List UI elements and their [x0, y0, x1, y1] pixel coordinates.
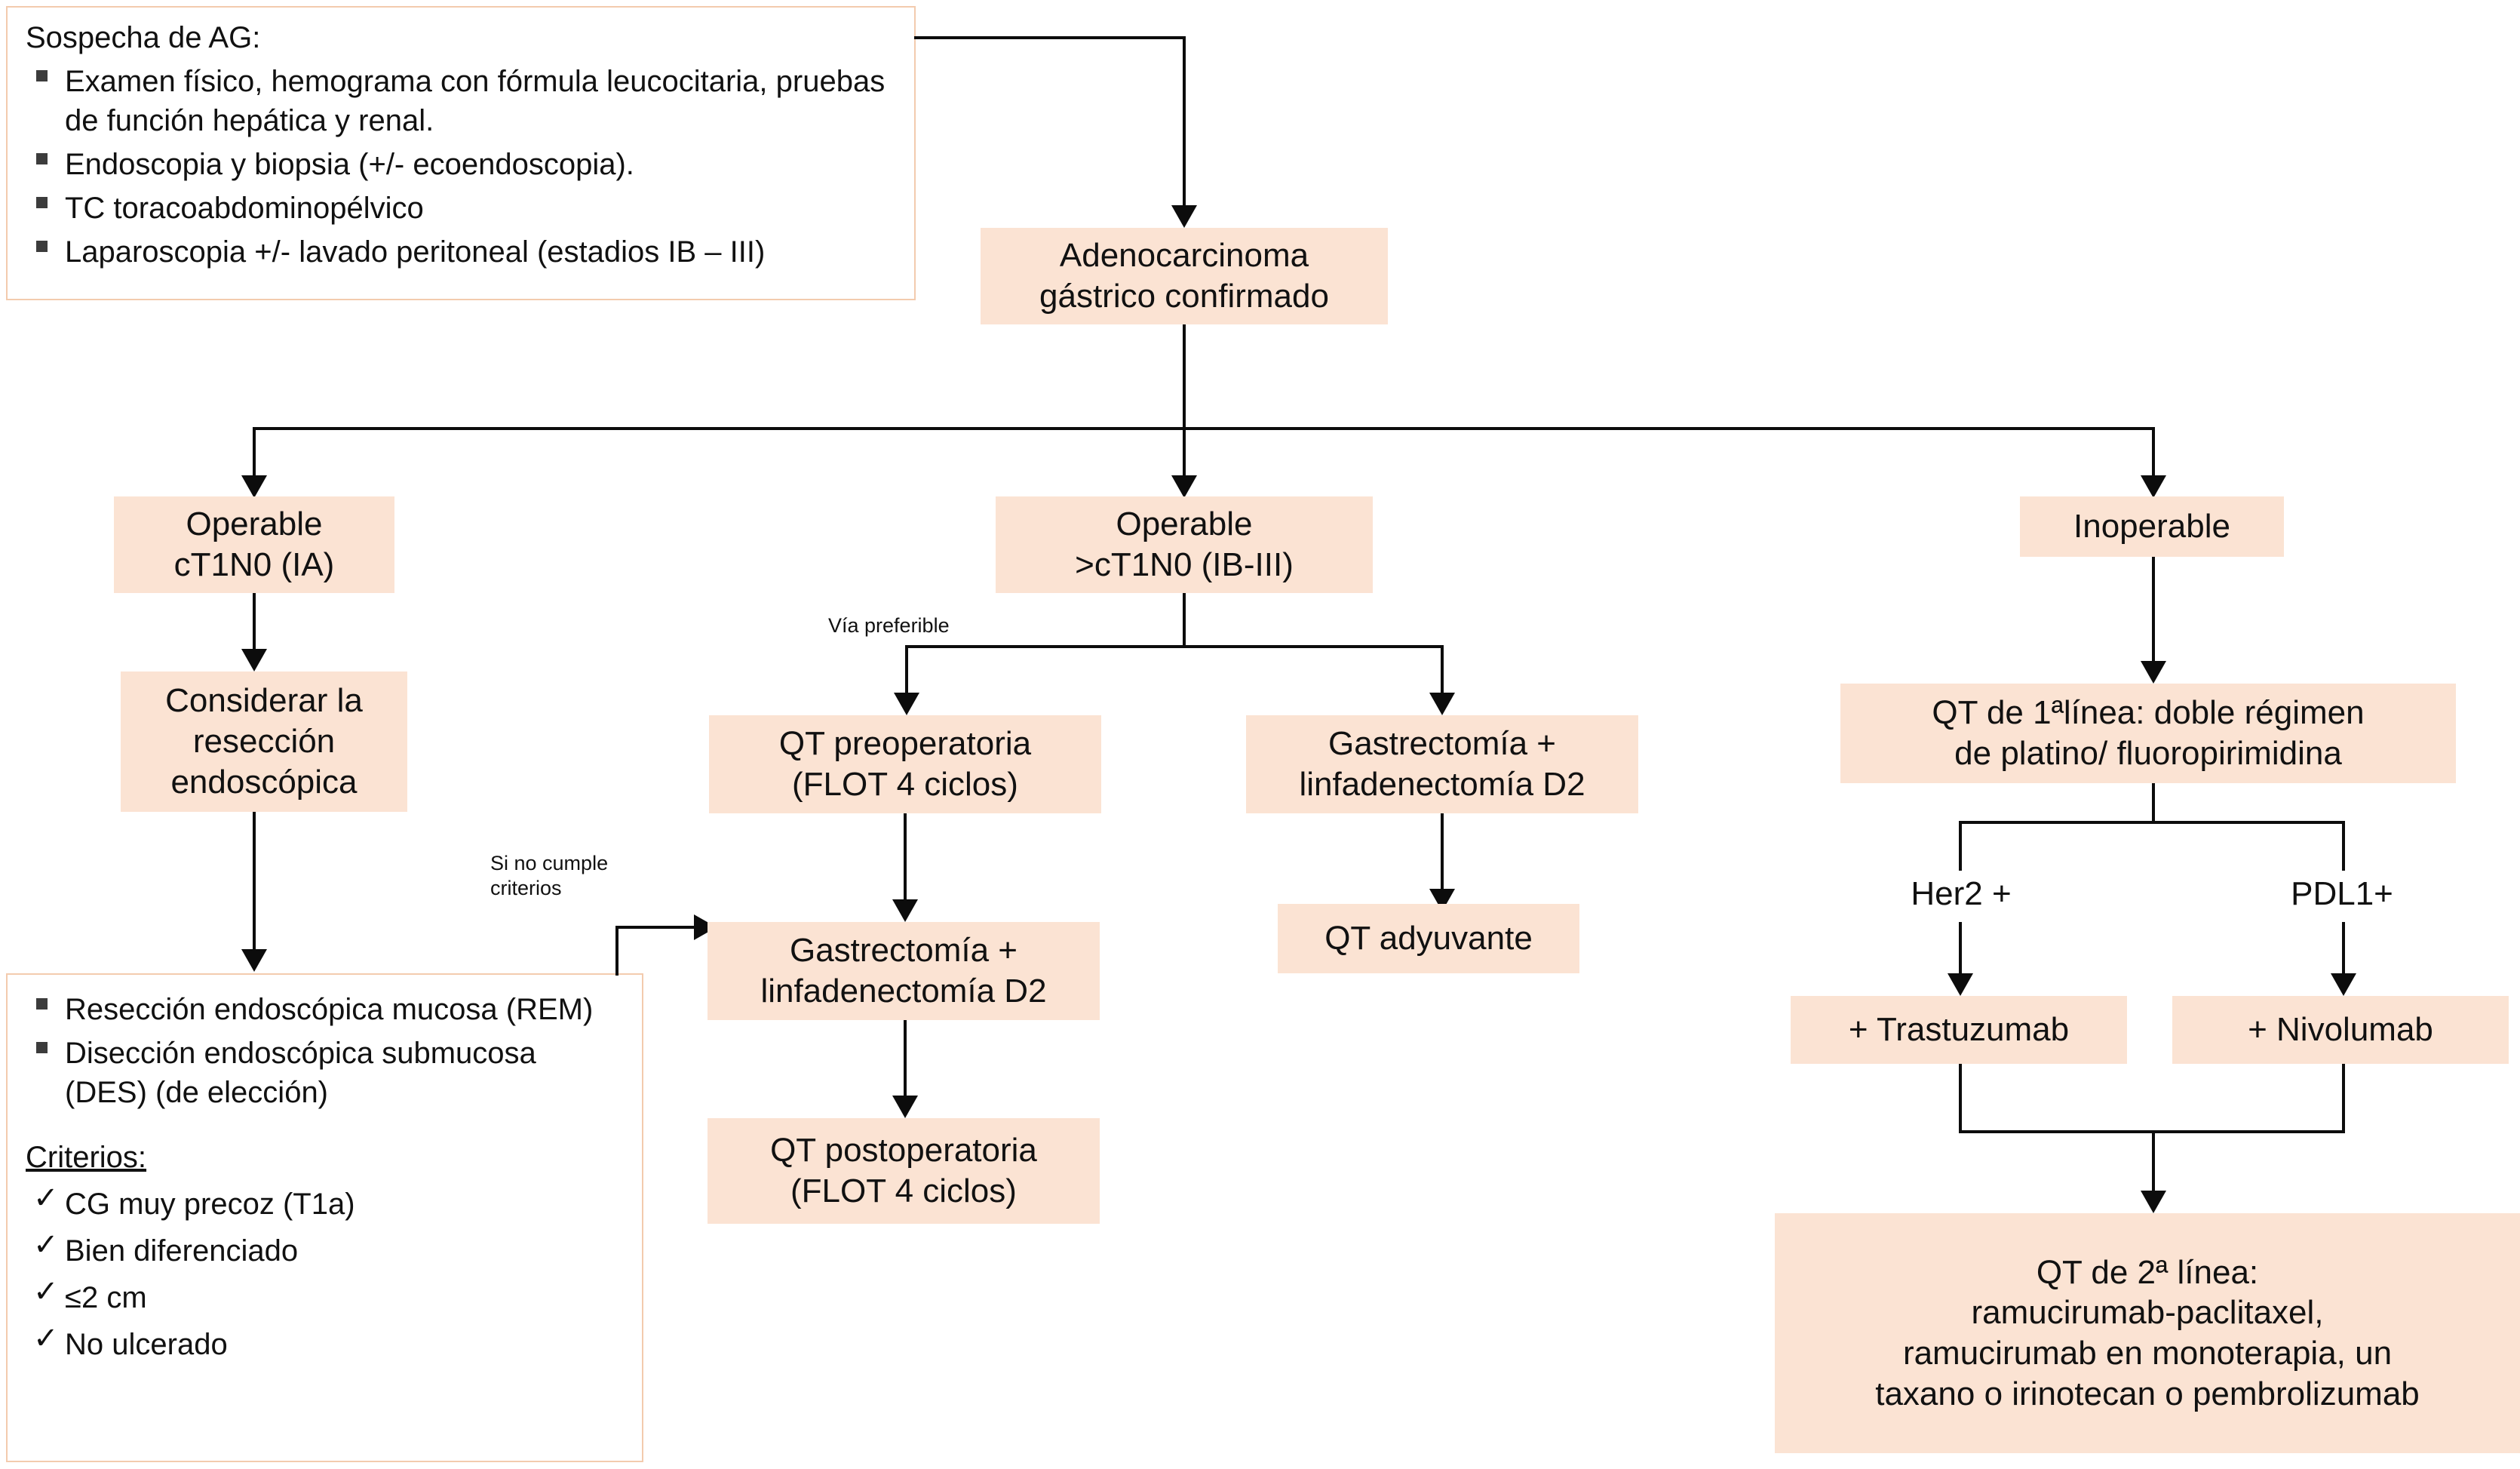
edge-split-left-down: [253, 427, 256, 480]
node-gastrectomia-linfadenectomia-d2-centro[interactable]: Gastrectomía + linfadenectomía D2: [708, 922, 1100, 1020]
node-operable-ct1n0-ia[interactable]: Operable cT1N0 (IA): [114, 496, 394, 593]
square-bullet-icon: [36, 153, 48, 164]
list-item: ✓CG muy precoz (T1a): [26, 1185, 624, 1224]
arrowhead-down-icon: [2331, 973, 2356, 996]
endoscopic-resection-panel: Resección endoscópica mucosa (REM) Disec…: [6, 973, 643, 1462]
edge-label-si-no-cumple-criterios: Si no cumple criterios: [490, 851, 664, 901]
arrowhead-down-icon: [2141, 661, 2166, 684]
edge-biomarker-right-down: [2342, 821, 2345, 871]
edge-qtpreop-to-gastrectomy: [904, 813, 907, 905]
node-nivolumab[interactable]: + Nivolumab: [2172, 996, 2509, 1064]
list-item-label: Resección endoscópica mucosa (REM): [65, 993, 593, 1026]
workup-panel-list: Examen físico, hemograma con fórmula leu…: [26, 62, 896, 272]
edge-gastrectomy-to-qtpostop: [904, 1020, 907, 1103]
node-qt-postoperatoria[interactable]: QT postoperatoria (FLOT 4 ciclos): [708, 1118, 1100, 1224]
node-qt-preoperatoria[interactable]: QT preoperatoria (FLOT 4 ciclos): [709, 715, 1101, 813]
node-adenocarcinoma-confirmado[interactable]: Adenocarcinoma gástrico confirmado: [981, 228, 1388, 324]
edge-trastuzumab-merge-down: [1959, 1064, 1962, 1133]
edge-biomarker-split-bar: [1959, 821, 2345, 824]
node-pdl1-positive[interactable]: PDL1+: [2236, 868, 2448, 920]
edge-criteria-elbow-h: [615, 926, 698, 929]
criteria-heading: Criterios:: [26, 1138, 624, 1177]
list-item-label: ≤2 cm: [65, 1281, 147, 1314]
edge-center-split-bar: [905, 645, 1444, 648]
edge-gastrectomy-right-to-adjuvant: [1441, 813, 1444, 895]
edge-criteria-elbow-v: [615, 926, 618, 976]
arrowhead-down-icon: [1948, 973, 1973, 996]
edge-operable-ibiii-down: [1183, 593, 1186, 647]
list-item-label: Endoscopia y biopsia (+/- ecoendoscopia)…: [65, 148, 634, 181]
arrowhead-down-icon: [894, 693, 919, 715]
arrowhead-down-icon: [1171, 205, 1197, 228]
check-icon: ✓: [33, 1230, 59, 1260]
edge-center-split-left-down: [905, 645, 908, 696]
criteria-list: ✓CG muy precoz (T1a) ✓Bien diferenciado …: [26, 1185, 624, 1364]
edge-consider-to-endoscopic-panel: [253, 812, 256, 955]
square-bullet-icon: [36, 70, 48, 81]
edge-split-right-down: [2152, 427, 2155, 480]
list-item-label: TC toracoabdominopélvico: [65, 192, 424, 225]
list-item: Laparoscopia +/- lavado peritoneal (esta…: [26, 232, 896, 272]
edge-label-via-preferible: Vía preferible: [828, 613, 1024, 638]
check-icon: ✓: [33, 1323, 59, 1354]
edge-center-split-right-down: [1441, 645, 1444, 696]
edge-her2-to-trastuzumab: [1959, 922, 1962, 979]
list-item-label: CG muy precoz (T1a): [65, 1188, 355, 1221]
node-inoperable[interactable]: Inoperable: [2020, 496, 2284, 557]
square-bullet-icon: [36, 998, 48, 1010]
edge-split-center-down: [1183, 427, 1186, 480]
edge-inoperable-to-firstline: [2152, 557, 2155, 667]
node-considerar-reseccion-endoscopica[interactable]: Considerar la resección endoscópica: [121, 671, 407, 812]
list-item-label: Disección endoscópica submucosa (DES) (d…: [65, 1037, 536, 1109]
list-item: Disección endoscópica submucosa (DES) (d…: [26, 1034, 624, 1112]
arrowhead-down-icon: [241, 475, 267, 498]
list-item: TC toracoabdominopélvico: [26, 189, 896, 228]
list-item: ✓Bien diferenciado: [26, 1231, 624, 1271]
arrowhead-down-icon: [1429, 693, 1455, 715]
node-qt-adyuvante[interactable]: QT adyuvante: [1278, 904, 1579, 973]
node-qt-primera-linea[interactable]: QT de 1ªlínea: doble régimen de platino/…: [1840, 684, 2456, 783]
arrowhead-down-icon: [892, 1096, 918, 1118]
list-item: Endoscopia y biopsia (+/- ecoendoscopia)…: [26, 145, 896, 184]
workup-panel-heading: Sospecha de AG:: [26, 18, 896, 57]
list-item: ✓No ulcerado: [26, 1325, 624, 1364]
arrowhead-down-icon: [1171, 475, 1197, 498]
list-item-label: Laparoscopia +/- lavado peritoneal (esta…: [65, 235, 765, 269]
edge-workup-to-confirmed-h: [914, 36, 1186, 39]
list-item: ✓≤2 cm: [26, 1278, 624, 1317]
endoscopic-technique-list: Resección endoscópica mucosa (REM) Disec…: [26, 990, 624, 1112]
edge-biomarker-left-down: [1959, 821, 1962, 871]
node-operable-gt-ct1n0-ibiii[interactable]: Operable >cT1N0 (IB-III): [996, 496, 1373, 593]
square-bullet-icon: [36, 197, 48, 208]
list-item: Resección endoscópica mucosa (REM): [26, 990, 624, 1029]
edge-workup-to-confirmed-v: [1183, 36, 1186, 210]
list-item: Examen físico, hemograma con fórmula leu…: [26, 62, 896, 140]
node-gastrectomia-linfadenectomia-d2-derecha[interactable]: Gastrectomía + linfadenectomía D2: [1246, 715, 1638, 813]
check-icon: ✓: [33, 1277, 59, 1307]
arrowhead-down-icon: [241, 649, 267, 671]
edge-three-way-bar: [253, 427, 2155, 430]
list-item-label: Examen físico, hemograma con fórmula leu…: [65, 65, 885, 137]
square-bullet-icon: [36, 241, 48, 252]
list-item-label: Bien diferenciado: [65, 1234, 298, 1268]
edge-operableia-to-consider: [253, 593, 256, 653]
list-item-label: No ulcerado: [65, 1328, 228, 1361]
flowchart-canvas: Sospecha de AG: Examen físico, hemograma…: [0, 0, 2520, 1469]
edge-firstline-down: [2152, 783, 2155, 822]
edge-pdl1-to-nivolumab: [2342, 922, 2345, 979]
node-qt-segunda-linea[interactable]: QT de 2ª línea: ramucirumab-paclitaxel, …: [1775, 1213, 2520, 1453]
check-icon: ✓: [33, 1183, 59, 1213]
arrowhead-down-icon: [892, 899, 918, 922]
workup-panel: Sospecha de AG: Examen físico, hemograma…: [6, 6, 916, 300]
arrowhead-down-icon: [2141, 1191, 2166, 1213]
square-bullet-icon: [36, 1042, 48, 1053]
arrowhead-down-icon: [2141, 475, 2166, 498]
edge-merge-to-secondline: [2152, 1130, 2155, 1197]
edge-confirmed-down: [1183, 324, 1186, 430]
node-trastuzumab[interactable]: + Trastuzumab: [1791, 996, 2127, 1064]
arrowhead-down-icon: [241, 949, 267, 972]
node-her2-positive[interactable]: Her2 +: [1855, 868, 2067, 920]
edge-nivolumab-merge-down: [2342, 1064, 2345, 1133]
